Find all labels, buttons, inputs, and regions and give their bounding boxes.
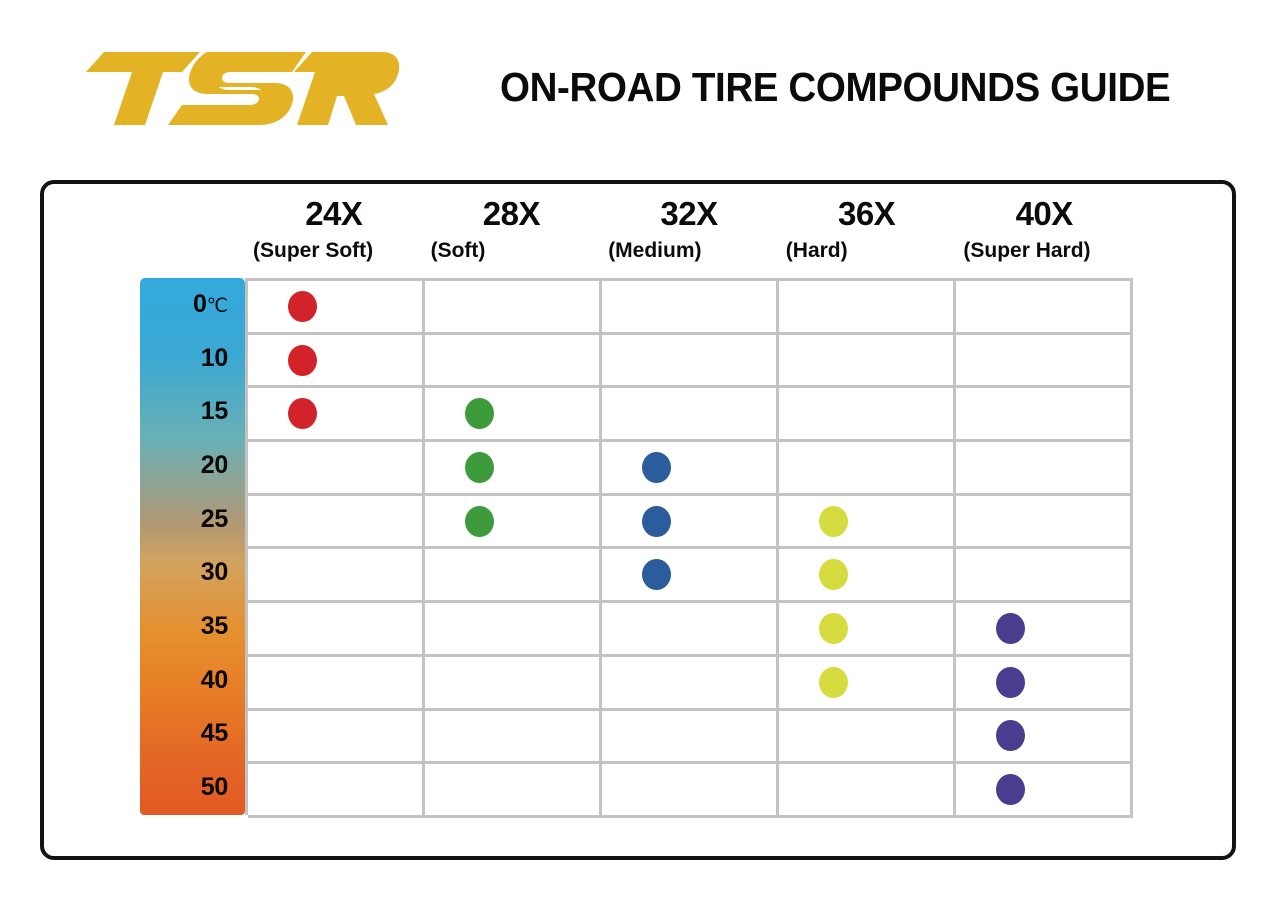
- tire-compounds-guide-page: ON-ROAD TIRE COMPOUNDS GUIDE 24X(Super S…: [0, 0, 1280, 898]
- temperature-cell: 40: [140, 654, 245, 708]
- grid-cell-28x-35: [425, 603, 602, 657]
- compound-dot-green: [465, 452, 494, 483]
- grid-cell-36x-40: [779, 657, 956, 711]
- compound-dot-purple: [996, 667, 1025, 698]
- temperature-value: 35: [201, 612, 228, 640]
- compound-table: 24X(Super Soft)28X(Soft)32X(Medium)36X(H…: [140, 195, 1133, 815]
- grid-cell-40x-15: [956, 388, 1133, 442]
- grid-cell-24x-45: [248, 711, 425, 765]
- grid-cell-28x-15: [425, 388, 602, 442]
- temperature-label: 25: [201, 505, 228, 534]
- temperature-cell: 50: [140, 761, 245, 815]
- compound-code: 28X: [423, 195, 601, 233]
- temperature-scale: 0℃101520253035404550: [140, 278, 245, 815]
- compound-dot-blue: [642, 506, 671, 537]
- temperature-label: 10: [201, 343, 228, 372]
- grid-cell-32x-15: [602, 388, 779, 442]
- temperature-cell: 15: [140, 385, 245, 439]
- temperature-cell: 10: [140, 332, 245, 386]
- grid-cell-24x-0: [248, 281, 425, 335]
- grid-cell-24x-50: [248, 764, 425, 818]
- temperature-label: 45: [201, 719, 228, 748]
- temperature-label: 50: [201, 773, 228, 802]
- table-row: [248, 711, 1133, 765]
- grid-cell-28x-0: [425, 281, 602, 335]
- grid-cell-36x-50: [779, 764, 956, 818]
- temperature-value: 15: [201, 397, 228, 425]
- temperature-value: 45: [201, 719, 228, 747]
- table-row: [248, 764, 1133, 818]
- compound-dot-yellow: [819, 613, 848, 644]
- grid-cell-40x-0: [956, 281, 1133, 335]
- grid-cell-36x-25: [779, 496, 956, 550]
- temperature-unit: ℃: [207, 296, 228, 317]
- grid-cell-28x-40: [425, 657, 602, 711]
- temperature-value: 25: [201, 505, 228, 533]
- grid-cell-36x-15: [779, 388, 956, 442]
- grid-cell-40x-30: [956, 549, 1133, 603]
- compound-dot-purple: [996, 720, 1025, 751]
- temperature-label: 20: [201, 451, 228, 480]
- grid-cell-24x-15: [248, 388, 425, 442]
- compound-dot-red: [288, 291, 317, 322]
- compound-code: 36X: [778, 195, 956, 233]
- column-header-36x: 36X(Hard): [778, 195, 956, 278]
- grid-cell-40x-20: [956, 442, 1133, 496]
- compound-code: 32X: [600, 195, 778, 233]
- grid-cell-28x-50: [425, 764, 602, 818]
- compound-dot-purple: [996, 613, 1025, 644]
- compound-dot-red: [288, 398, 317, 429]
- grid-cell-24x-30: [248, 549, 425, 603]
- compound-dot-yellow: [819, 559, 848, 590]
- temperature-value: 0: [193, 290, 207, 318]
- temperature-cell: 0℃: [140, 278, 245, 332]
- temperature-value: 30: [201, 558, 228, 586]
- table-row: [248, 442, 1133, 496]
- temperature-label: 40: [201, 666, 228, 695]
- column-header-row: 24X(Super Soft)28X(Soft)32X(Medium)36X(H…: [245, 195, 1133, 278]
- temperature-value: 50: [201, 773, 228, 801]
- compound-dot-green: [465, 506, 494, 537]
- temperature-cell: 45: [140, 708, 245, 762]
- column-header-40x: 40X(Super Hard): [955, 195, 1133, 278]
- temperature-label: 15: [201, 397, 228, 426]
- grid-cell-32x-10: [602, 335, 779, 389]
- table-row: [248, 281, 1133, 335]
- grid-cell-36x-0: [779, 281, 956, 335]
- compound-description: (Super Soft): [253, 239, 373, 263]
- grid-cell-32x-25: [602, 496, 779, 550]
- grid-cell-36x-35: [779, 603, 956, 657]
- header: ON-ROAD TIRE COMPOUNDS GUIDE: [0, 0, 1280, 165]
- grid-cell-40x-50: [956, 764, 1133, 818]
- compound-dot-red: [288, 345, 317, 376]
- table-row: [248, 549, 1133, 603]
- grid-cell-28x-30: [425, 549, 602, 603]
- grid-cell-40x-10: [956, 335, 1133, 389]
- grid-cell-32x-50: [602, 764, 779, 818]
- temperature-cell: 35: [140, 600, 245, 654]
- compound-description: (Soft): [431, 239, 486, 263]
- temperature-label: 30: [201, 558, 228, 587]
- grid-cell-40x-45: [956, 711, 1133, 765]
- grid-cell-24x-20: [248, 442, 425, 496]
- temperature-value: 10: [201, 343, 228, 371]
- grid-cell-32x-30: [602, 549, 779, 603]
- grid-cell-28x-45: [425, 711, 602, 765]
- grid-cell-32x-0: [602, 281, 779, 335]
- temperature-cell: 20: [140, 439, 245, 493]
- grid-cell-36x-10: [779, 335, 956, 389]
- grid-cell-40x-25: [956, 496, 1133, 550]
- tsr-logo-icon: [70, 30, 400, 142]
- column-header-28x: 28X(Soft): [423, 195, 601, 278]
- temperature-label: 0℃: [193, 290, 228, 319]
- grid-cell-32x-35: [602, 603, 779, 657]
- compound-dot-yellow: [819, 667, 848, 698]
- column-header-24x: 24X(Super Soft): [245, 195, 423, 278]
- compound-description: (Hard): [786, 239, 848, 263]
- table-row: [248, 603, 1133, 657]
- column-header-32x: 32X(Medium): [600, 195, 778, 278]
- grid-cell-24x-10: [248, 335, 425, 389]
- temperature-cell: 25: [140, 493, 245, 547]
- grid-cell-36x-45: [779, 711, 956, 765]
- grid-cell-24x-40: [248, 657, 425, 711]
- compound-dot-yellow: [819, 506, 848, 537]
- grid-cell-36x-20: [779, 442, 956, 496]
- compound-dot-green: [465, 398, 494, 429]
- compound-code: 24X: [245, 195, 423, 233]
- compound-dot-purple: [996, 774, 1025, 805]
- compound-description: (Medium): [608, 239, 701, 263]
- grid-cell-40x-40: [956, 657, 1133, 711]
- grid-cell-24x-35: [248, 603, 425, 657]
- table-row: [248, 657, 1133, 711]
- table-row: [248, 335, 1133, 389]
- grid-cell-28x-25: [425, 496, 602, 550]
- grid-cell-28x-10: [425, 335, 602, 389]
- grid-cell-32x-45: [602, 711, 779, 765]
- temperature-cell: 30: [140, 546, 245, 600]
- compound-code: 40X: [955, 195, 1133, 233]
- grid-cell-28x-20: [425, 442, 602, 496]
- compound-grid: [245, 278, 1133, 815]
- grid-cell-24x-25: [248, 496, 425, 550]
- compound-dot-blue: [642, 559, 671, 590]
- grid-cell-32x-40: [602, 657, 779, 711]
- table-row: [248, 388, 1133, 442]
- compound-dot-blue: [642, 452, 671, 483]
- temperature-label: 35: [201, 612, 228, 641]
- compound-description: (Super Hard): [963, 239, 1090, 263]
- grid-cell-32x-20: [602, 442, 779, 496]
- grid-cell-40x-35: [956, 603, 1133, 657]
- temperature-value: 20: [201, 451, 228, 479]
- grid-cell-36x-30: [779, 549, 956, 603]
- page-title: ON-ROAD TIRE COMPOUNDS GUIDE: [500, 64, 1196, 111]
- temperature-value: 40: [201, 666, 228, 694]
- table-row: [248, 496, 1133, 550]
